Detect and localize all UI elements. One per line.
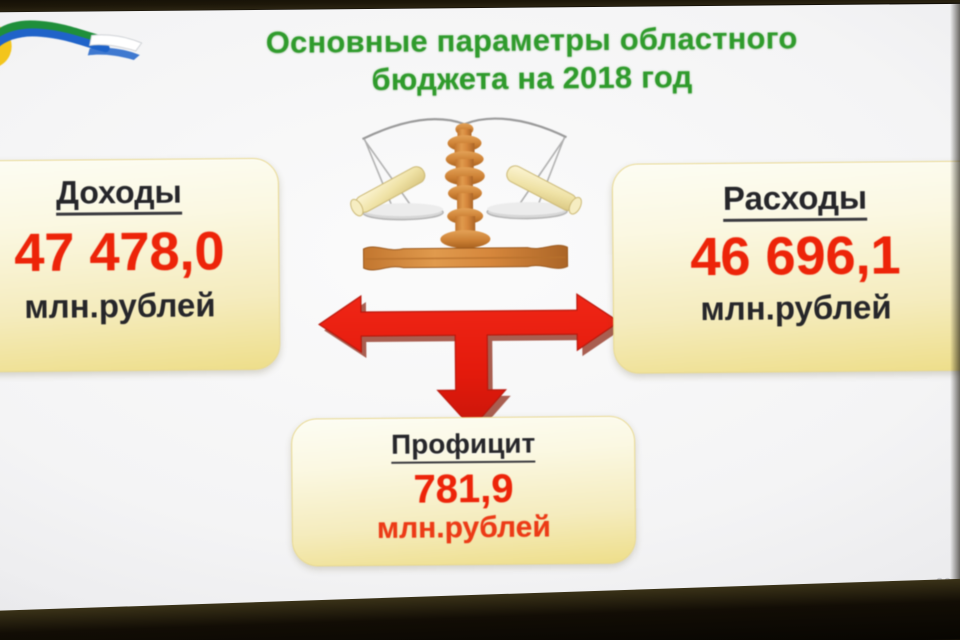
expense-label: Расходы bbox=[723, 179, 868, 222]
tri-directional-arrow-icon bbox=[299, 285, 640, 438]
income-value: 47 478,0 bbox=[0, 224, 279, 281]
surplus-value: 781,9 bbox=[292, 468, 634, 511]
expense-unit: млн.рублей bbox=[614, 288, 960, 329]
slide-title: Основные параметры областного бюджета на… bbox=[111, 18, 952, 102]
expense-value: 46 696,1 bbox=[613, 228, 960, 285]
balance-scales-icon bbox=[344, 111, 586, 303]
presentation-slide: Основные параметры областного бюджета на… bbox=[0, 4, 960, 621]
expense-card: Расходы 46 696,1 млн.рублей bbox=[612, 161, 960, 374]
slide-title-line2: бюджета на 2018 год bbox=[112, 56, 952, 102]
slide-title-line1: Основные параметры областного bbox=[266, 20, 798, 60]
surplus-unit: млн.рублей bbox=[293, 510, 635, 547]
surplus-label: Профицит bbox=[391, 428, 535, 464]
photographed-projection-screen: Основные параметры областного бюджета на… bbox=[0, 0, 960, 640]
income-label: Доходы bbox=[56, 174, 182, 216]
income-card: Доходы 47 478,0 млн.рублей bbox=[0, 158, 280, 373]
income-unit: млн.рублей bbox=[0, 286, 279, 327]
screen-edge-right bbox=[950, 0, 960, 640]
surplus-card: Профицит 781,9 млн.рублей bbox=[291, 416, 636, 567]
